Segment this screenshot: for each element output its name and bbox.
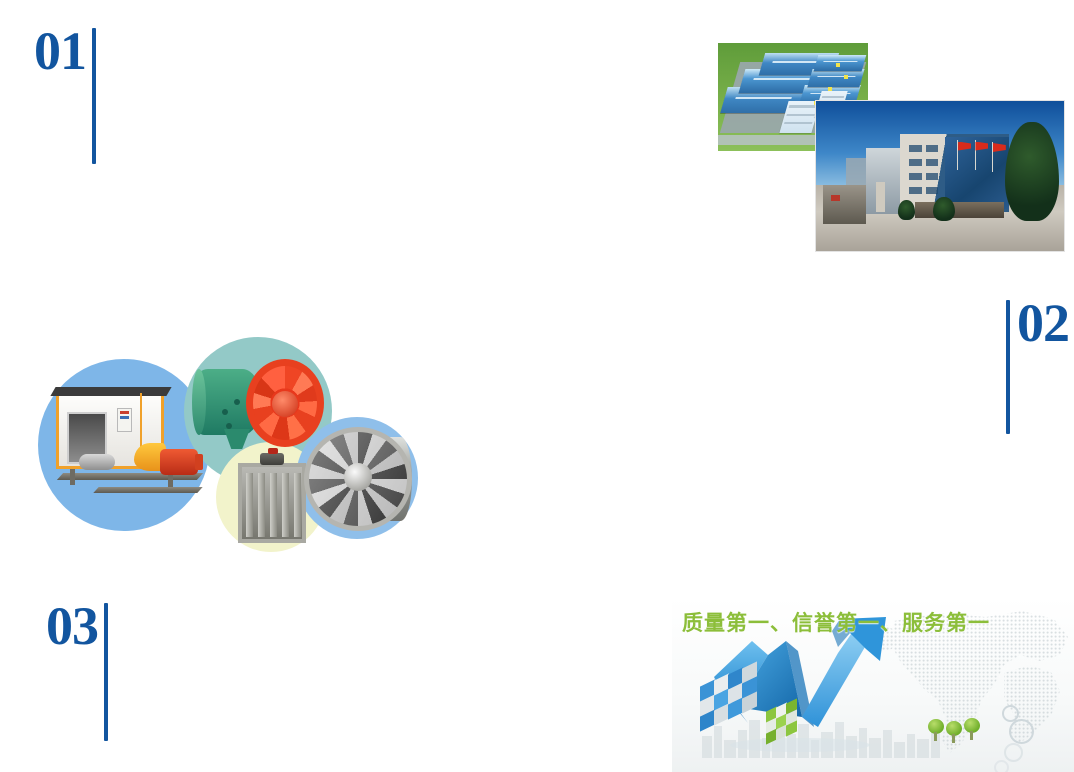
tree-icon — [928, 719, 944, 741]
tree-icon — [946, 721, 962, 743]
decorative-ring — [994, 760, 1009, 772]
office-building-photo — [815, 100, 1065, 252]
slogan-banner: 质量第一、信誉第一、服务第一 — [672, 597, 1074, 772]
axial-flow-fan-image — [196, 355, 324, 463]
section-rule-01 — [92, 28, 96, 164]
section-marker-03: 03 — [46, 600, 108, 741]
tree-icon — [964, 718, 980, 740]
photo-tree — [933, 197, 955, 221]
section-rule-03 — [104, 603, 108, 741]
photo-entrance-wall — [915, 202, 1004, 219]
photo-tree — [1005, 122, 1060, 221]
workshop-shed — [807, 69, 864, 87]
photo-gatehouse — [823, 185, 865, 224]
slogan-text: 质量第一、信誉第一、服务第一 — [682, 607, 990, 637]
mixed-flow-fan-image — [306, 429, 410, 529]
photo-kiosk — [876, 182, 886, 212]
section-number-01: 01 — [34, 25, 86, 77]
section-number-02: 02 — [1017, 297, 1069, 349]
air-damper-valve-image — [234, 453, 312, 547]
workshop-shed — [814, 55, 867, 71]
decorative-ring — [1004, 743, 1023, 762]
cabinet-centrifugal-fan-image — [56, 387, 206, 505]
section-marker-01: 01 — [34, 25, 96, 164]
section-marker-02: 02 — [1006, 297, 1069, 434]
page-canvas: 01 02 03 — [0, 0, 1074, 772]
section-number-03: 03 — [46, 600, 98, 652]
decorative-ring — [1009, 719, 1034, 744]
section-rule-02 — [1006, 300, 1010, 434]
product-collection — [38, 325, 423, 550]
photo-tree — [898, 200, 915, 220]
